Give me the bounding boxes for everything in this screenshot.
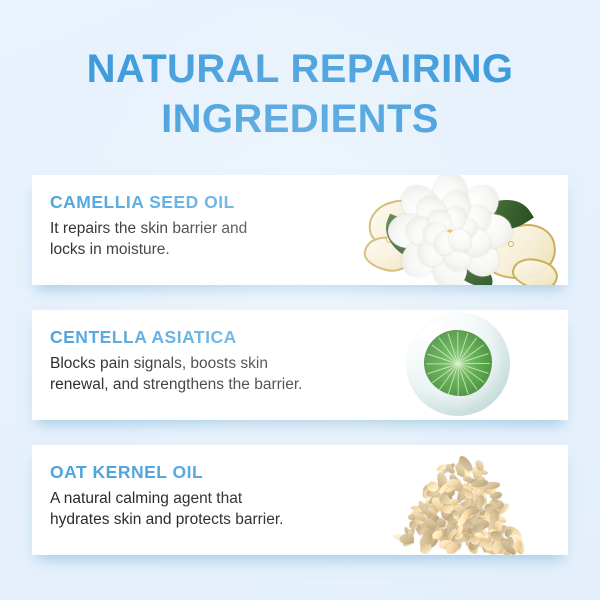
card-text-block: CAMELLIA SEED OIL It repairs the skin ba… bbox=[32, 175, 362, 285]
page-title: NATURAL REPAIRING INGREDIENTS bbox=[0, 44, 600, 144]
ingredient-description-line-1: Blocks pain signals, boosts skin bbox=[50, 353, 350, 374]
oat-flakes-pile-image bbox=[362, 445, 568, 555]
leaf-vein-icon bbox=[426, 363, 458, 364]
camellia-flower-with-oil-image bbox=[362, 175, 568, 285]
ingredients-poster: NATURAL REPAIRING INGREDIENTS CAMELLIA S… bbox=[0, 0, 600, 600]
card-text-block: OAT KERNEL OIL A natural calming agent t… bbox=[32, 445, 362, 555]
oat-flakes-icon bbox=[396, 459, 524, 545]
page-title-line-2: INGREDIENTS bbox=[0, 94, 600, 144]
ingredient-description-line-2: hydrates skin and protects barrier. bbox=[50, 509, 350, 530]
ingredient-description-line-1: A natural calming agent that bbox=[50, 488, 350, 509]
oat-flake-icon bbox=[419, 544, 430, 555]
ingredient-description-line-2: locks in moisture. bbox=[50, 239, 350, 260]
oil-droplet-icon bbox=[508, 241, 514, 247]
card-text-block: CENTELLA ASIATICA Blocks pain signals, b… bbox=[32, 310, 362, 420]
ingredient-description-line-2: renewal, and strengthens the barrier. bbox=[50, 374, 350, 395]
camellia-blossom-icon bbox=[396, 183, 504, 279]
ingredient-card-centella-asiatica: CENTELLA ASIATICA Blocks pain signals, b… bbox=[32, 310, 568, 420]
ingredient-heading: CENTELLA ASIATICA bbox=[50, 327, 362, 348]
ingredient-heading: CAMELLIA SEED OIL bbox=[50, 192, 362, 213]
ingredient-description-line-1: It repairs the skin barrier and bbox=[50, 218, 350, 239]
oat-flake-icon bbox=[435, 518, 445, 527]
centella-leaf-icon bbox=[424, 330, 492, 396]
ingredient-heading: OAT KERNEL OIL bbox=[50, 462, 362, 483]
ingredient-card-oat-kernel-oil: OAT KERNEL OIL A natural calming agent t… bbox=[32, 445, 568, 555]
ingredient-card-camellia-seed-oil: CAMELLIA SEED OIL It repairs the skin ba… bbox=[32, 175, 568, 285]
page-title-line-1: NATURAL REPAIRING bbox=[0, 44, 600, 94]
leaf-vein-icon bbox=[457, 364, 458, 396]
centella-leaf-in-gel-drop-image bbox=[362, 310, 568, 420]
